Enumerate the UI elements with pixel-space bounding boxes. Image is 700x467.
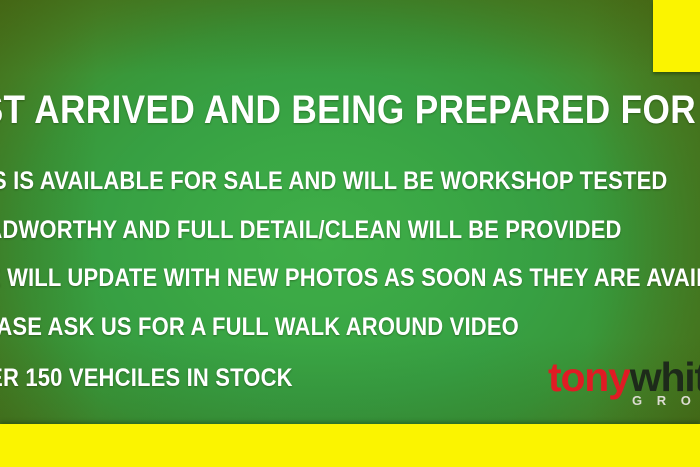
banner-headline: JUST ARRIVED AND BEING PREPARED FOR SALE <box>0 88 700 132</box>
banner-line-photos-update: WE WILL UPDATE WITH NEW PHOTOS AS SOON A… <box>0 264 700 292</box>
yellow-footer-bar <box>0 424 700 467</box>
banner-line-walkaround-video: PLEASE ASK US FOR A FULL WALK AROUND VID… <box>0 313 519 341</box>
banner-line-availability: THIS IS AVAILABLE FOR SALE AND WILL BE W… <box>0 167 667 195</box>
tonywhite-group-logo: tonywhite G R O U P <box>548 355 700 417</box>
banner-line-roadworthy: ROADWORTHY AND FULL DETAIL/CLEAN WILL BE… <box>0 216 622 244</box>
dealership-placeholder-banner: JUST ARRIVED AND BEING PREPARED FOR SALE… <box>0 0 700 467</box>
logo-tagline: G R O U P <box>632 393 700 408</box>
logo-brand-primary: tony <box>548 354 630 400</box>
banner-line-stock-count: OVER 150 VEHCILES IN STOCK <box>0 364 293 392</box>
